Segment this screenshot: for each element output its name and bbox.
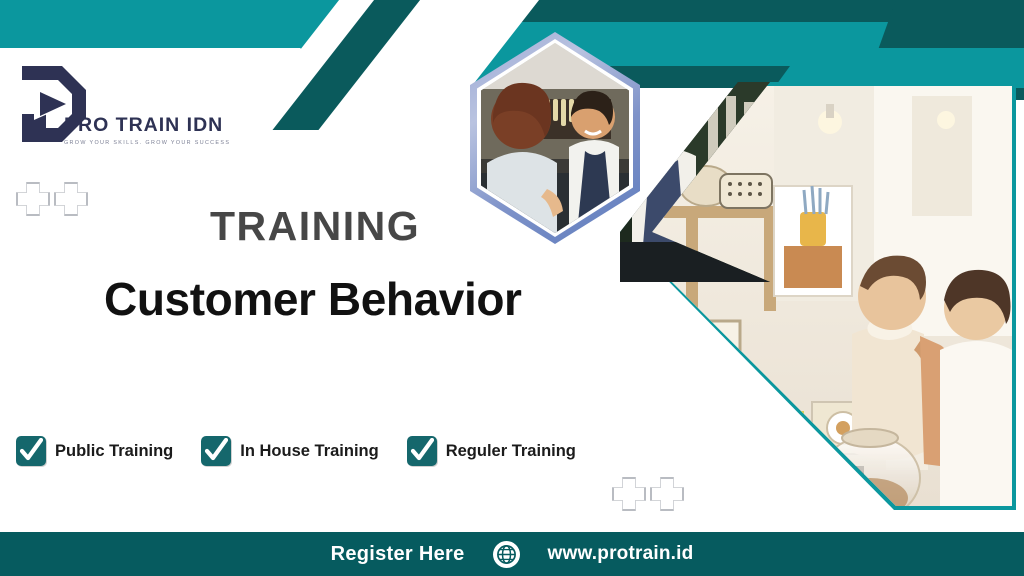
main-photo-artwork [624,86,1012,506]
training-option-reguler[interactable]: Reguler Training [407,436,576,466]
brand-logo-text: PRO TRAIN IDN GROW YOUR SKILLS. GROW YOU… [64,114,230,146]
hexagon-photo-inner [477,39,633,237]
globe-icon [493,541,520,568]
hexagon-photo [481,43,629,233]
training-option-label: Reguler Training [446,442,576,461]
poster-canvas: PRO TRAIN IDN GROW YOUR SKILLS. GROW YOU… [0,0,1024,576]
footer-bar: Register Here www.protrain.id [0,532,1024,576]
training-options-list: Public Training In House Training Regule… [16,436,604,466]
page-title: Customer Behavior [104,272,522,326]
decor-cross-group-left [16,182,88,216]
checkbox-checked-icon[interactable] [16,436,46,466]
website-url[interactable]: www.protrain.id [548,543,694,565]
checkbox-checked-icon[interactable] [407,436,437,466]
register-here-label[interactable]: Register Here [331,543,465,566]
checkbox-checked-icon[interactable] [201,436,231,466]
cross-outline-icon [16,182,50,216]
training-option-public[interactable]: Public Training [16,436,173,466]
cross-outline-icon [612,477,646,511]
brand-tagline: GROW YOUR SKILLS. GROW YOUR SUCCESS [64,140,230,146]
cross-outline-icon [54,182,88,216]
footer-content: Register Here www.protrain.id [331,541,694,568]
training-option-in-house[interactable]: In House Training [201,436,378,466]
cross-outline-icon [650,477,684,511]
training-option-label: Public Training [55,442,173,461]
hexagon-photo-artwork [481,43,629,233]
main-photo [624,86,1012,506]
training-option-label: In House Training [240,442,378,461]
eyebrow-heading: TRAINING [210,203,420,250]
brand-name: PRO TRAIN IDN [64,114,230,137]
brand-logo[interactable]: PRO TRAIN IDN GROW YOUR SKILLS. GROW YOU… [16,62,231,154]
decor-cross-group-bottom [612,477,684,511]
